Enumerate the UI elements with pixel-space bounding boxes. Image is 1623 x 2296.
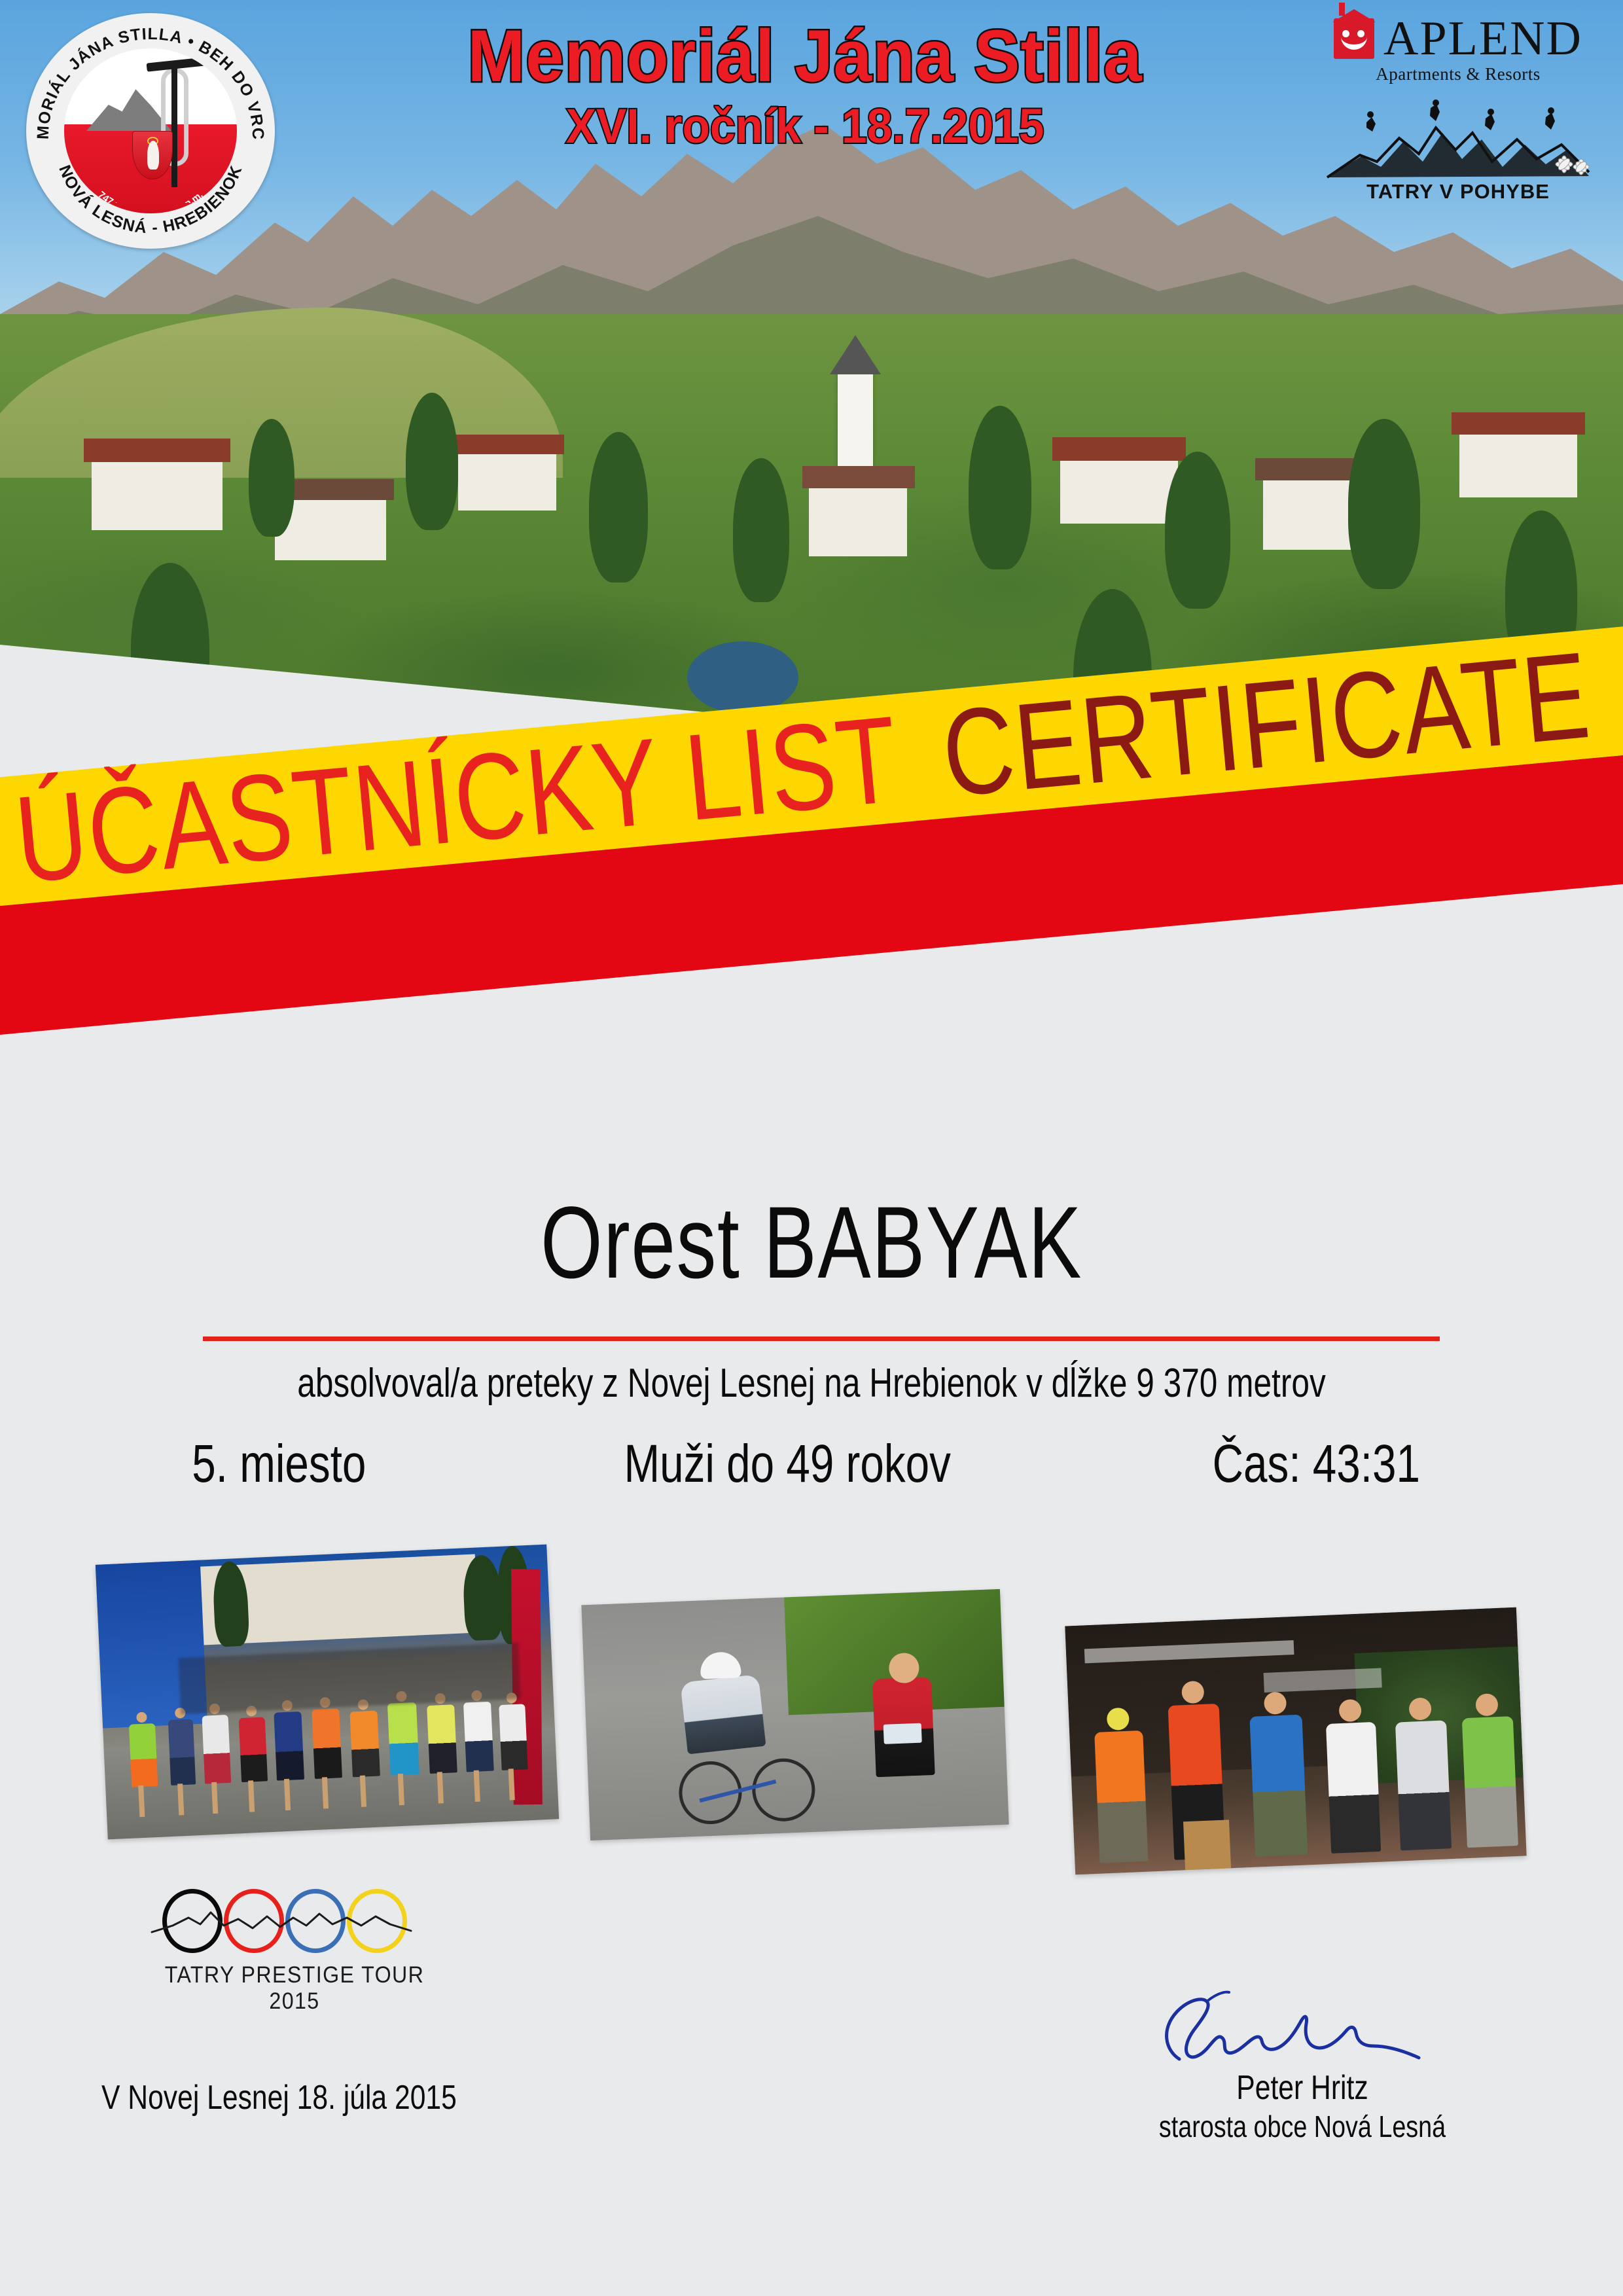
athlete bbox=[1462, 1716, 1518, 1848]
smile-icon bbox=[1341, 37, 1367, 50]
runner bbox=[387, 1702, 419, 1776]
tree bbox=[733, 458, 789, 602]
svg-text:747 m n.m. - 1280 m n.m.: 747 m n.m. - 1280 m n.m. bbox=[96, 189, 205, 203]
award-ceremony-photo bbox=[1065, 1607, 1526, 1875]
signer-name: Peter Hritz bbox=[1125, 2068, 1479, 2108]
mountain-ridge-icon bbox=[151, 1909, 412, 1939]
tatry-v-pohybe-logo: TATRY V POHYBE bbox=[1308, 99, 1609, 204]
signature-block: Peter Hritz starosta obce Nová Lesná bbox=[1086, 1990, 1518, 2144]
house-roof bbox=[1052, 437, 1186, 461]
certificate-page: Memoriál Jána Stilla XVI. ročník - 18.7.… bbox=[0, 0, 1623, 2296]
house bbox=[458, 452, 556, 511]
runner bbox=[274, 1712, 304, 1781]
athlete bbox=[1395, 1720, 1452, 1850]
race-start-photo bbox=[96, 1545, 559, 1840]
athlete bbox=[1326, 1722, 1381, 1854]
athlete bbox=[1094, 1731, 1148, 1863]
recipient-name: Orest BABYAK bbox=[179, 1185, 1444, 1302]
house-roof bbox=[84, 439, 230, 462]
church-roof bbox=[802, 466, 915, 488]
helmet-icon bbox=[700, 1651, 741, 1679]
runner bbox=[427, 1704, 457, 1774]
runner bbox=[202, 1715, 231, 1784]
tatry-prestige-tour-logo: TATRY PRESTIGE TOUR 2015 bbox=[151, 1885, 438, 2015]
results-row: 5. miesto Muži do 49 rokov Čas: 43:31 bbox=[157, 1433, 1472, 1495]
result-category: Muži do 49 rokov bbox=[624, 1433, 951, 1495]
name-underline-rule bbox=[203, 1336, 1440, 1341]
emblem-elevation-text: 747 m n.m. - 1280 m n.m. bbox=[64, 164, 237, 203]
aplend-tagline: Apartments & Resorts bbox=[1308, 64, 1609, 84]
house bbox=[1060, 458, 1178, 524]
olympic-style-rings bbox=[151, 1885, 438, 1957]
house-roof bbox=[1452, 412, 1585, 435]
race-summary-text: absolvoval/a preteky z Novej Lesnej na H… bbox=[162, 1360, 1461, 1407]
tree bbox=[1165, 452, 1230, 609]
mountain-icon bbox=[86, 82, 171, 131]
issue-place-date: V Novej Lesnej 18. júla 2015 bbox=[101, 2078, 457, 2117]
tree bbox=[249, 419, 294, 537]
cyclist bbox=[680, 1674, 766, 1754]
tree bbox=[589, 432, 648, 583]
event-emblem: MEMORIÁL JÁNA STILLA • BEH DO VRCHU NOVÁ… bbox=[26, 13, 275, 249]
cyclist-and-runner-photo bbox=[581, 1589, 1008, 1840]
emblem-inner: 747 m n.m. - 1280 m n.m. bbox=[64, 48, 237, 213]
aplend-logo: APLEND bbox=[1308, 16, 1609, 62]
tatry-v-pohybe-label: TATRY V POHYBE bbox=[1308, 180, 1609, 204]
sponsor-logos: APLEND Apartments & Resorts bbox=[1308, 16, 1609, 204]
tatry-mountain-silhouette-icon bbox=[1321, 99, 1596, 184]
tree bbox=[969, 406, 1031, 569]
aplend-brand: APLEND bbox=[1383, 16, 1582, 62]
signer-role: starosta obce Nová Lesná bbox=[1125, 2109, 1479, 2144]
result-time: Čas: 43:31 bbox=[1213, 1433, 1420, 1495]
runner bbox=[312, 1708, 342, 1779]
athlete bbox=[1249, 1715, 1308, 1857]
runner bbox=[463, 1702, 494, 1772]
bicycle-wheel bbox=[751, 1757, 817, 1823]
tree bbox=[131, 563, 209, 733]
house-roof bbox=[450, 435, 564, 454]
runner bbox=[349, 1711, 380, 1778]
tree bbox=[406, 393, 458, 530]
event-title-block: Memoriál Jána Stilla XVI. ročník - 18.7.… bbox=[366, 20, 1243, 154]
tatry-prestige-tour-label: TATRY PRESTIGE TOUR 2015 bbox=[162, 1962, 427, 2015]
runner bbox=[168, 1719, 196, 1785]
house-smile-icon bbox=[1334, 18, 1374, 59]
house bbox=[1459, 432, 1577, 497]
event-subtitle: XVI. ročník - 18.7.2015 bbox=[393, 98, 1217, 154]
result-place: 5. miesto bbox=[192, 1433, 366, 1495]
chimney-icon bbox=[1339, 3, 1345, 16]
wooden-trophy bbox=[1183, 1820, 1231, 1870]
handwritten-signature bbox=[1086, 1990, 1518, 2068]
event-title: Memoriál Jána Stilla bbox=[393, 20, 1217, 93]
runner bbox=[129, 1723, 158, 1787]
race-bib bbox=[883, 1723, 922, 1744]
house bbox=[92, 458, 223, 530]
runner bbox=[499, 1704, 527, 1770]
runner bbox=[239, 1717, 268, 1782]
church-nave bbox=[809, 484, 907, 556]
tree bbox=[1348, 419, 1420, 589]
